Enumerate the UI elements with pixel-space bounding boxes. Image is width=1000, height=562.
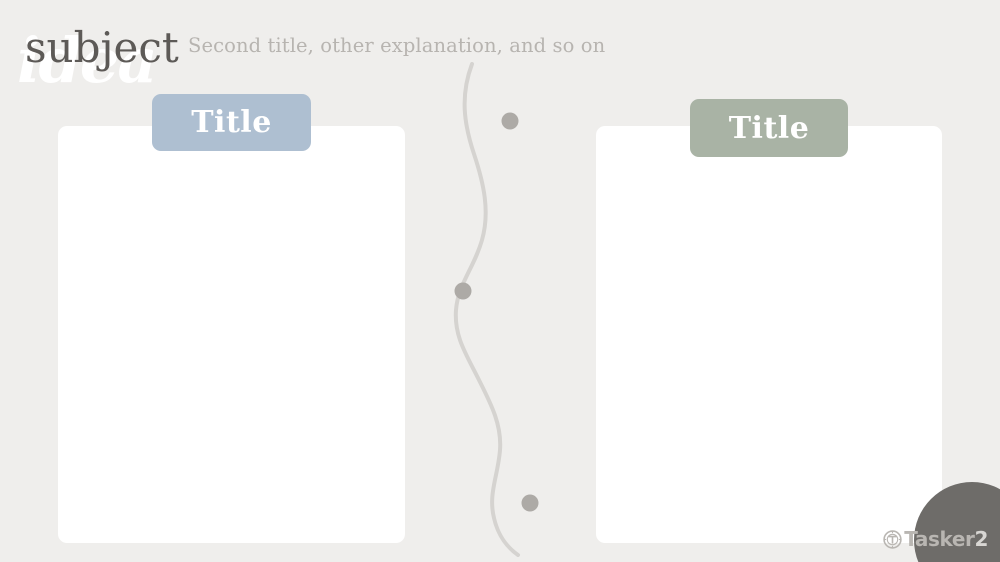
brand-suffix-text: 2 [974, 529, 988, 549]
wavy-divider [440, 62, 570, 557]
page-subtitle: Second title, other explanation, and so … [188, 34, 605, 57]
page-title: subject [25, 22, 179, 75]
divider-dot-2 [455, 283, 472, 300]
slide-header: idea subject Second title, other explana… [0, 0, 1000, 86]
wavy-line-icon [440, 62, 570, 557]
slide-canvas: idea subject Second title, other explana… [0, 0, 1000, 562]
divider-path [456, 64, 518, 555]
panel-left-title-badge[interactable]: Title [152, 94, 311, 151]
brand-name-text: Tasker [904, 529, 974, 549]
content-panel-left-body[interactable] [58, 126, 405, 543]
content-panel-left[interactable] [58, 126, 405, 543]
content-panel-right[interactable] [596, 126, 942, 543]
brand-logo: Tasker 2 [883, 529, 988, 549]
content-panel-right-body[interactable] [596, 126, 942, 543]
panel-right-title-badge[interactable]: Title [690, 99, 848, 157]
divider-dot-1 [502, 113, 519, 130]
divider-dot-3 [522, 495, 539, 512]
tasker-circle-logo-icon [883, 530, 902, 549]
